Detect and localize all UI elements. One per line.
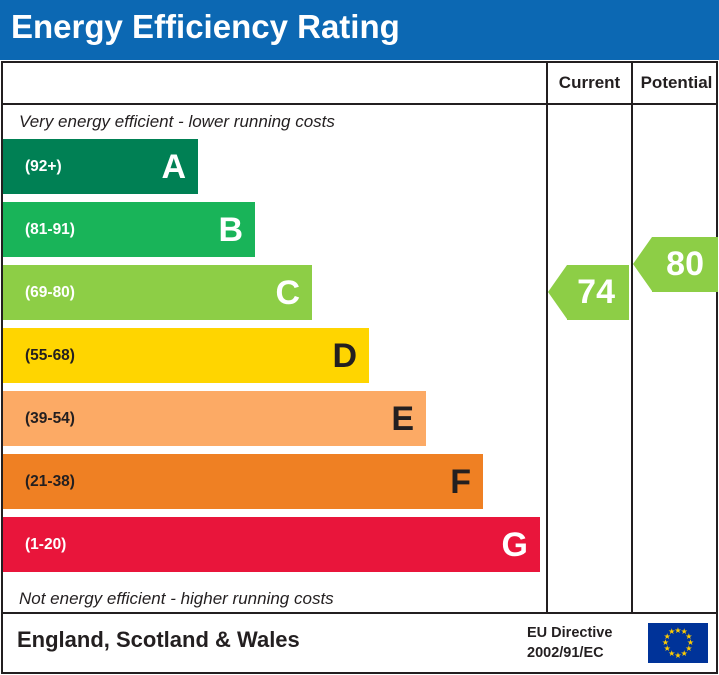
band-letter-b: B [218, 213, 243, 247]
rating-band-a: (92+)A [3, 139, 198, 194]
column-divider-current [546, 63, 548, 612]
caption-top: Very energy efficient - lower running co… [19, 112, 335, 132]
band-letter-f: F [450, 465, 471, 499]
eu-flag-icon: ★★★★★★★★★★★★ [648, 623, 708, 663]
chart-header: Energy Efficiency Rating [0, 0, 719, 60]
band-letter-a: A [161, 150, 186, 184]
rating-band-b: (81-91)B [3, 202, 255, 257]
rating-band-e: (39-54)E [3, 391, 426, 446]
rating-band-g: (1-20)G [3, 517, 540, 572]
band-range-b: (81-91) [25, 221, 75, 239]
band-range-a: (92+) [25, 158, 62, 176]
band-range-f: (21-38) [25, 473, 75, 491]
band-letter-e: E [391, 402, 414, 436]
footer-directive-line1: EU Directive [527, 624, 612, 644]
column-header-current: Current [548, 73, 631, 93]
caption-bottom: Not energy efficient - higher running co… [19, 589, 334, 609]
rating-band-c: (69-80)C [3, 265, 312, 320]
band-letter-c: C [275, 276, 300, 310]
epc-energy-efficiency-chart: Energy Efficiency Rating Current Potenti… [0, 0, 719, 675]
star-icon: ★ [668, 628, 676, 636]
rating-value-current: 74 [577, 273, 615, 312]
page-title: Energy Efficiency Rating [11, 8, 400, 46]
band-range-e: (39-54) [25, 410, 75, 428]
footer-directive-line2: 2002/91/EC [527, 644, 612, 664]
chart-body: Current Potential Very energy efficient … [1, 61, 718, 614]
footer-directive: EU Directive 2002/91/EC [527, 624, 612, 663]
band-range-g: (1-20) [25, 536, 66, 554]
rating-bands: (92+)A(81-91)B(69-80)C(55-68)D(39-54)E(2… [3, 139, 546, 583]
rating-value-potential: 80 [666, 245, 704, 284]
chart-footer: England, Scotland & Wales EU Directive 2… [1, 614, 718, 674]
band-range-c: (69-80) [25, 284, 75, 302]
column-header-potential: Potential [633, 73, 719, 93]
column-divider-potential [631, 63, 633, 612]
rating-band-f: (21-38)F [3, 454, 483, 509]
arrow-left-icon [633, 237, 652, 291]
footer-region-label: England, Scotland & Wales [17, 627, 300, 653]
arrow-left-icon [548, 265, 567, 319]
rating-marker-potential: 80 [652, 237, 718, 292]
band-letter-g: G [502, 528, 528, 562]
band-letter-d: D [332, 339, 357, 373]
header-divider [3, 103, 716, 105]
rating-marker-current: 74 [567, 265, 629, 320]
band-range-d: (55-68) [25, 347, 75, 365]
rating-band-d: (55-68)D [3, 328, 369, 383]
